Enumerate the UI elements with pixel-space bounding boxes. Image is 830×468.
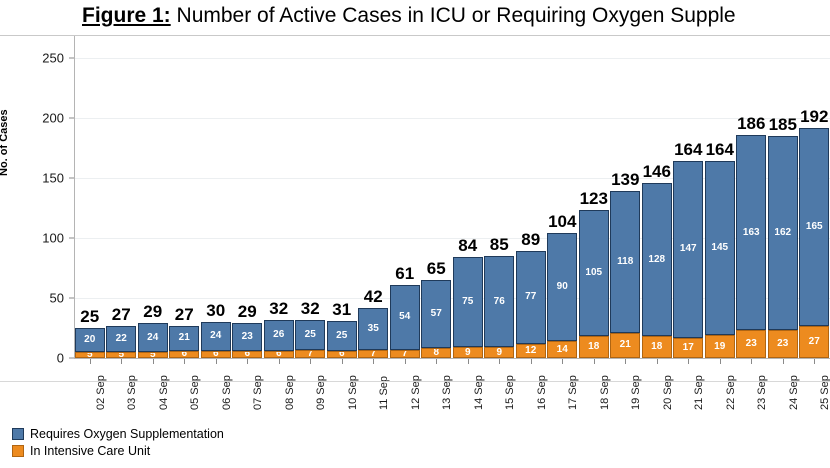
bar-series-group: 5202552227524296212762430623296263272532… xyxy=(74,36,830,358)
bar-segment-icu[interactable]: 9 xyxy=(453,347,483,358)
x-tick-mark xyxy=(783,359,784,364)
bar-segment-oxygen[interactable]: 128 xyxy=(642,183,672,337)
y-tick-label-0: 0 xyxy=(57,351,64,366)
x-tick-mark xyxy=(814,359,815,364)
bar-column[interactable]: 976 xyxy=(484,256,514,358)
bar-total-label: 186 xyxy=(737,115,765,132)
plot-bottom-divider xyxy=(0,381,830,382)
bar-segment-value: 162 xyxy=(774,228,791,238)
y-tick-label-150: 150 xyxy=(42,171,64,186)
bar-segment-oxygen[interactable]: 23 xyxy=(232,323,262,351)
bar-column[interactable]: 18128 xyxy=(642,183,672,358)
bar-segment-oxygen[interactable]: 75 xyxy=(453,257,483,347)
bar-segment-value: 17 xyxy=(683,343,694,353)
bar-total-label: 146 xyxy=(643,163,671,180)
bar-segment-icu[interactable]: 5 xyxy=(106,352,136,358)
bar-segment-value: 21 xyxy=(620,340,631,350)
bar-segment-icu[interactable]: 7 xyxy=(358,350,388,358)
bar-total-label: 139 xyxy=(611,171,639,188)
bar-total-label: 42 xyxy=(364,288,383,305)
bar-segment-value: 9 xyxy=(465,348,471,358)
bar-segment-icu[interactable]: 23 xyxy=(768,330,798,358)
blue-square-swatch xyxy=(12,428,24,440)
bar-segment-icu[interactable]: 5 xyxy=(75,352,105,358)
bar-segment-value: 5 xyxy=(118,352,124,358)
bar-segment-value: 7 xyxy=(307,350,313,358)
bar-segment-icu[interactable]: 7 xyxy=(390,350,420,358)
bar-segment-value: 23 xyxy=(242,332,253,342)
bar-segment-icu[interactable]: 18 xyxy=(642,336,672,358)
bar-total-label: 61 xyxy=(395,265,414,282)
bar-segment-icu[interactable]: 8 xyxy=(421,348,451,358)
bar-total-label: 32 xyxy=(301,300,320,317)
bar-segment-value: 5 xyxy=(150,352,156,358)
x-tick-mark xyxy=(121,359,122,364)
bar-segment-oxygen[interactable]: 163 xyxy=(736,135,766,331)
bar-column[interactable]: 624 xyxy=(201,322,231,358)
bar-total-label: 89 xyxy=(521,231,540,248)
bar-segment-value: 27 xyxy=(809,337,820,347)
bar-total-label: 65 xyxy=(427,260,446,277)
bar-segment-icu[interactable]: 5 xyxy=(138,352,168,358)
legend-item-label: Requires Oxygen Supplementation xyxy=(30,427,224,441)
bar-column[interactable]: 23162 xyxy=(768,136,798,358)
bar-segment-oxygen[interactable]: 145 xyxy=(705,161,735,335)
bar-segment-oxygen[interactable]: 90 xyxy=(547,233,577,341)
bar-segment-value: 7 xyxy=(402,350,408,358)
bar-column[interactable]: 524 xyxy=(138,323,168,358)
bar-segment-oxygen[interactable]: 26 xyxy=(264,320,294,351)
bar-segment-icu[interactable]: 21 xyxy=(610,333,640,358)
x-axis-labels: 02 Sep03 Sep04 Sep05 Sep06 Sep07 Sep08 S… xyxy=(74,366,830,426)
bar-segment-value: 5 xyxy=(87,352,93,358)
bar-segment-oxygen[interactable]: 77 xyxy=(516,251,546,343)
bar-column[interactable]: 625 xyxy=(327,321,357,358)
bar-segment-icu[interactable]: 6 xyxy=(327,351,357,358)
bar-column[interactable]: 19145 xyxy=(705,161,735,358)
bar-column[interactable]: 735 xyxy=(358,308,388,358)
bar-segment-value: 24 xyxy=(210,331,221,341)
x-tick-mark xyxy=(562,359,563,364)
orange-square-swatch xyxy=(12,445,24,457)
bar-column[interactable]: 17147 xyxy=(673,161,703,358)
bar-total-label: 25 xyxy=(80,308,99,325)
bar-segment-oxygen[interactable]: 35 xyxy=(358,308,388,350)
bar-column[interactable]: 21118 xyxy=(610,191,640,358)
bar-total-label: 29 xyxy=(238,303,257,320)
bar-column[interactable]: 522 xyxy=(106,326,136,358)
bar-segment-value: 25 xyxy=(305,330,316,340)
bar-column[interactable]: 725 xyxy=(295,320,325,358)
bar-segment-value: 18 xyxy=(651,342,662,352)
bar-segment-value: 77 xyxy=(525,292,536,302)
bar-segment-icu[interactable]: 6 xyxy=(264,351,294,358)
bar-segment-icu[interactable]: 12 xyxy=(516,344,546,358)
x-tick-mark xyxy=(594,359,595,364)
bar-total-label: 27 xyxy=(175,306,194,323)
bar-segment-value: 18 xyxy=(588,342,599,352)
x-tick-mark xyxy=(184,359,185,364)
bar-segment-value: 6 xyxy=(276,351,282,358)
bar-column[interactable]: 520 xyxy=(75,328,105,358)
bar-segment-value: 22 xyxy=(116,334,127,344)
y-tick-label-100: 100 xyxy=(42,231,64,246)
bar-segment-value: 6 xyxy=(339,351,345,358)
bar-column[interactable]: 27165 xyxy=(799,128,829,358)
bar-segment-value: 25 xyxy=(336,331,347,341)
y-tick-label-200: 200 xyxy=(42,111,64,126)
x-tick-mark xyxy=(751,359,752,364)
bar-column[interactable]: 975 xyxy=(453,257,483,358)
x-tick-mark xyxy=(468,359,469,364)
bar-segment-value: 14 xyxy=(557,345,568,355)
bar-segment-value: 165 xyxy=(806,222,823,232)
bar-segment-value: 12 xyxy=(525,346,536,356)
bar-segment-value: 118 xyxy=(617,257,633,267)
bar-segment-value: 6 xyxy=(181,351,187,358)
bar-segment-icu[interactable]: 14 xyxy=(547,341,577,358)
bar-segment-oxygen[interactable]: 162 xyxy=(768,136,798,330)
bar-segment-oxygen[interactable]: 21 xyxy=(169,326,199,351)
bar-segment-value: 20 xyxy=(84,335,95,345)
bar-segment-oxygen[interactable]: 76 xyxy=(484,256,514,347)
bar-total-label: 164 xyxy=(706,141,734,158)
y-tick-label-50: 50 xyxy=(50,291,64,306)
bar-segment-oxygen[interactable]: 24 xyxy=(138,323,168,352)
bar-segment-oxygen[interactable]: 54 xyxy=(390,285,420,350)
bar-segment-value: 128 xyxy=(648,255,665,265)
x-tick-mark xyxy=(688,359,689,364)
bar-segment-value: 145 xyxy=(711,243,728,253)
bar-segment-icu[interactable]: 6 xyxy=(169,351,199,358)
legend-item[interactable]: Requires Oxygen Supplementation xyxy=(12,425,224,442)
bar-segment-icu[interactable]: 18 xyxy=(579,336,609,358)
x-tick-mark xyxy=(153,359,154,364)
bar-segment-oxygen[interactable]: 25 xyxy=(295,320,325,350)
bar-segment-value: 19 xyxy=(714,342,725,352)
bar-total-label: 29 xyxy=(143,303,162,320)
bar-column[interactable]: 621 xyxy=(169,326,199,358)
bar-column[interactable]: 754 xyxy=(390,285,420,358)
bar-segment-value: 57 xyxy=(431,309,442,319)
x-tick-mark xyxy=(90,359,91,364)
chart-legend: Requires Oxygen SupplementationIn Intens… xyxy=(12,425,224,459)
bar-segment-icu[interactable]: 6 xyxy=(232,351,262,358)
bar-segment-oxygen[interactable]: 24 xyxy=(201,322,231,351)
bar-segment-value: 9 xyxy=(496,348,502,358)
bar-segment-icu[interactable]: 6 xyxy=(201,351,231,358)
bar-segment-value: 35 xyxy=(368,324,379,334)
bar-segment-value: 7 xyxy=(370,350,376,358)
bar-segment-icu[interactable]: 17 xyxy=(673,338,703,358)
bar-segment-oxygen[interactable]: 57 xyxy=(421,280,451,348)
x-tick-mark xyxy=(279,359,280,364)
bar-total-label: 30 xyxy=(206,302,225,319)
bar-segment-oxygen[interactable]: 147 xyxy=(673,161,703,337)
legend-item[interactable]: In Intensive Care Unit xyxy=(12,442,224,459)
bar-total-label: 192 xyxy=(800,108,828,125)
chart-figure: Figure 1: Number of Active Cases in ICU … xyxy=(0,0,830,468)
bar-segment-value: 105 xyxy=(585,268,602,278)
bar-segment-icu[interactable]: 9 xyxy=(484,347,514,358)
bar-column[interactable]: 857 xyxy=(421,280,451,358)
bar-segment-value: 23 xyxy=(777,339,788,349)
figure-title-prefix: Figure 1: xyxy=(82,4,171,27)
bar-segment-oxygen[interactable]: 118 xyxy=(610,191,640,333)
x-tick-mark xyxy=(342,359,343,364)
y-tick-label-250: 250 xyxy=(42,51,64,66)
bar-segment-value: 90 xyxy=(557,282,568,292)
bar-segment-value: 54 xyxy=(399,312,410,322)
page-title: Figure 1: Number of Active Cases in ICU … xyxy=(82,1,736,31)
bar-total-label: 84 xyxy=(458,237,477,254)
bar-column[interactable]: 18105 xyxy=(579,210,609,358)
x-tick-mark xyxy=(310,359,311,364)
bar-total-label: 85 xyxy=(490,236,509,253)
bar-segment-icu[interactable]: 19 xyxy=(705,335,735,358)
bar-segment-value: 23 xyxy=(746,339,757,349)
bar-total-label: 123 xyxy=(580,190,608,207)
bar-segment-oxygen[interactable]: 25 xyxy=(327,321,357,351)
bar-segment-icu[interactable]: 7 xyxy=(295,350,325,358)
x-tick-mark xyxy=(405,359,406,364)
x-tick-mark xyxy=(657,359,658,364)
bar-segment-icu[interactable]: 27 xyxy=(799,326,829,358)
bar-column[interactable]: 1490 xyxy=(547,233,577,358)
bar-total-label: 27 xyxy=(112,306,131,323)
figure-title-bar: Figure 1: Number of Active Cases in ICU … xyxy=(0,0,830,34)
bar-segment-value: 8 xyxy=(433,348,439,358)
legend-item-label: In Intensive Care Unit xyxy=(30,444,150,458)
x-tick-mark xyxy=(247,359,248,364)
bar-column[interactable]: 626 xyxy=(264,320,294,358)
x-tick-mark xyxy=(499,359,500,364)
bar-total-label: 185 xyxy=(769,116,797,133)
x-tick-mark xyxy=(531,359,532,364)
bar-column[interactable]: 1277 xyxy=(516,251,546,358)
bar-segment-value: 75 xyxy=(462,297,473,307)
bar-total-label: 164 xyxy=(674,141,702,158)
bar-segment-value: 76 xyxy=(494,297,505,307)
bar-segment-value: 147 xyxy=(680,244,697,254)
bar-segment-value: 21 xyxy=(179,333,190,343)
x-tick-mark xyxy=(720,359,721,364)
bar-segment-oxygen[interactable]: 22 xyxy=(106,326,136,352)
x-tick-mark xyxy=(436,359,437,364)
bar-total-label: 104 xyxy=(548,213,576,230)
figure-title-rest: Number of Active Cases in ICU or Requiri… xyxy=(171,4,736,27)
bar-total-label: 31 xyxy=(332,301,351,318)
bar-segment-oxygen[interactable]: 105 xyxy=(579,210,609,336)
bar-segment-value: 26 xyxy=(273,330,284,340)
x-tick-mark xyxy=(216,359,217,364)
bar-segment-value: 6 xyxy=(244,351,250,358)
y-axis-title: No. of Cases xyxy=(0,109,10,176)
bar-segment-value: 163 xyxy=(743,228,760,238)
bar-column[interactable]: 623 xyxy=(232,323,262,358)
x-tick-mark xyxy=(625,359,626,364)
bar-segment-value: 6 xyxy=(213,351,219,358)
bar-column[interactable]: 23163 xyxy=(736,135,766,358)
bar-total-label: 32 xyxy=(269,300,288,317)
x-tick-mark xyxy=(373,359,374,364)
bar-segment-oxygen[interactable]: 165 xyxy=(799,128,829,326)
bar-segment-value: 24 xyxy=(147,333,158,343)
bar-segment-icu[interactable]: 23 xyxy=(736,330,766,358)
bar-segment-oxygen[interactable]: 20 xyxy=(75,328,105,352)
